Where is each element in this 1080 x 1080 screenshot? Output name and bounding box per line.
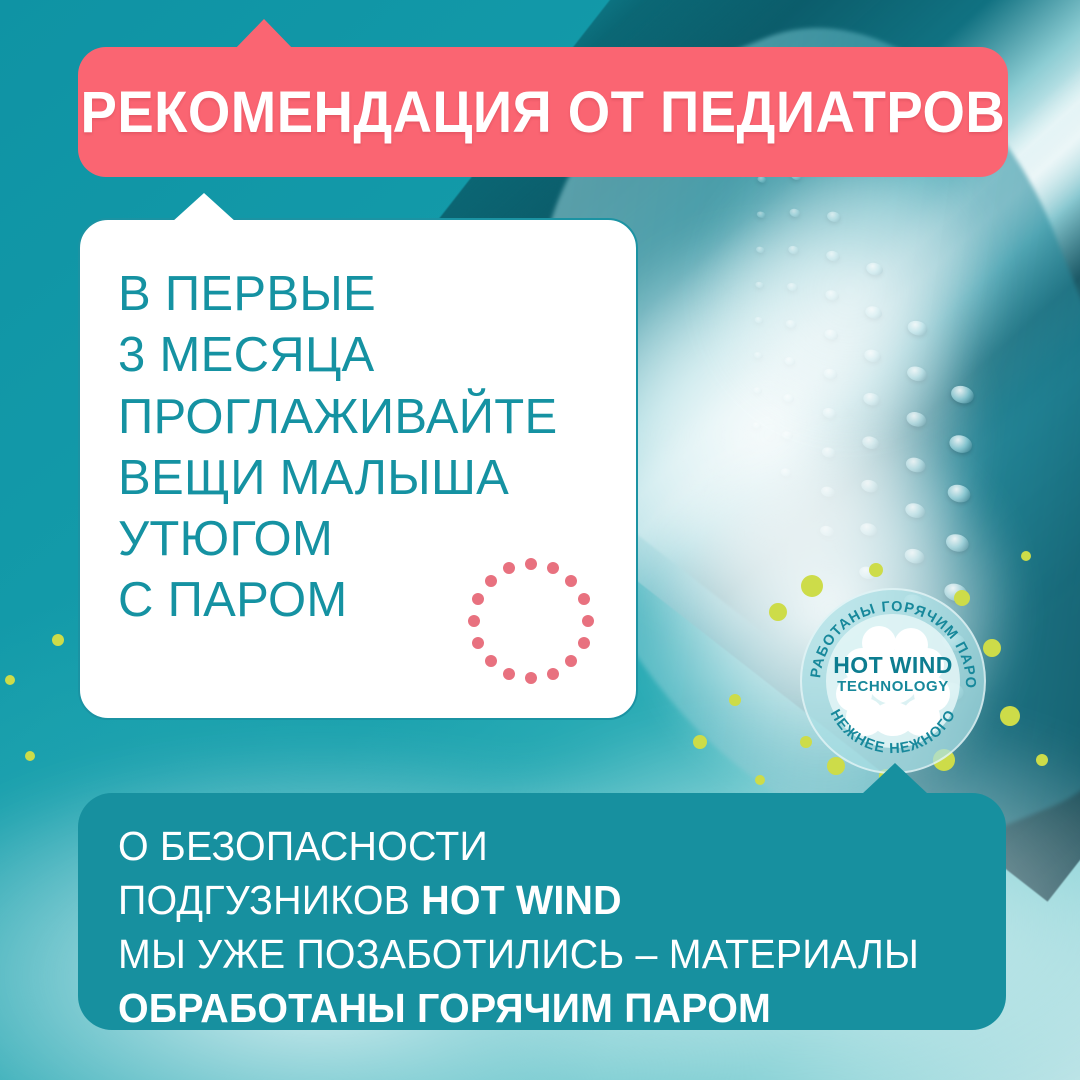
ring-dot <box>525 558 537 570</box>
lime-dot <box>1036 754 1048 766</box>
ring-dot <box>525 672 537 684</box>
lime-dot <box>769 603 787 621</box>
ring-dot <box>485 575 497 587</box>
ring-dot <box>565 655 577 667</box>
ring-dot <box>503 562 515 574</box>
lime-dot <box>5 675 15 685</box>
dotted-ring-decoration <box>468 558 594 684</box>
steam-plume-3 <box>700 140 1000 440</box>
ring-dot <box>472 637 484 649</box>
ring-dot <box>472 593 484 605</box>
panel-line-1: О БЕЗОПАСНОСТИ <box>118 819 951 873</box>
recommendation-banner: РЕКОМЕНДАЦИЯ ОТ ПЕДИАТРОВ <box>78 47 1008 177</box>
poster-root: РЕКОМЕНДАЦИЯ ОТ ПЕДИАТРОВ В ПЕРВЫЕ 3 МЕС… <box>0 0 1080 1080</box>
lime-dot <box>25 751 35 761</box>
ring-dot <box>485 655 497 667</box>
hot-wind-badge: ОБРАБОТАНЫ ГОРЯЧИМ ПАРОМ НЕЖНЕЕ НЕЖНОГО … <box>800 588 986 774</box>
lime-dot <box>1000 706 1020 726</box>
badge-arc-bottom-text: НЕЖНЕЕ НЕЖНОГО <box>827 707 960 757</box>
lime-dot <box>755 775 765 785</box>
panel-line-4: ОБРАБОТАНЫ ГОРЯЧИМ ПАРОМ <box>118 981 951 1035</box>
banner-title: РЕКОМЕНДАЦИЯ ОТ ПЕДИАТРОВ <box>81 79 1006 146</box>
panel-line-2-prefix: ПОДГУЗНИКОВ <box>118 877 421 923</box>
panel-line-4-bold: ОБРАБОТАНЫ ГОРЯЧИМ ПАРОМ <box>118 985 771 1031</box>
lime-dot <box>693 735 707 749</box>
panel-line-2-brand: HOT WIND <box>421 877 621 923</box>
panel-line-3: МЫ УЖЕ ПОЗАБОТИЛИСЬ – МАТЕРИАЛЫ <box>118 927 951 981</box>
ring-dot <box>547 562 559 574</box>
badge-hot-wind-label: HOT WIND <box>800 654 986 677</box>
ring-dot <box>578 637 590 649</box>
ring-dot <box>565 575 577 587</box>
safety-panel: О БЕЗОПАСНОСТИ ПОДГУЗНИКОВ HOT WIND МЫ У… <box>78 793 1006 1030</box>
ring-dot <box>468 615 480 627</box>
lime-dot <box>869 563 883 577</box>
badge-center-text: HOT WIND TECHNOLOGY <box>800 654 986 694</box>
lime-dot <box>729 694 741 706</box>
ring-dot <box>582 615 594 627</box>
safety-panel-text: О БЕЗОПАСНОСТИ ПОДГУЗНИКОВ HOT WIND МЫ У… <box>118 819 951 1035</box>
lime-dot <box>1021 551 1031 561</box>
ring-dot <box>503 668 515 680</box>
ring-dot <box>547 668 559 680</box>
panel-line-2: ПОДГУЗНИКОВ HOT WIND <box>118 873 951 927</box>
lime-dot <box>52 634 64 646</box>
ring-dot <box>578 593 590 605</box>
badge-technology-label: TECHNOLOGY <box>800 679 986 694</box>
